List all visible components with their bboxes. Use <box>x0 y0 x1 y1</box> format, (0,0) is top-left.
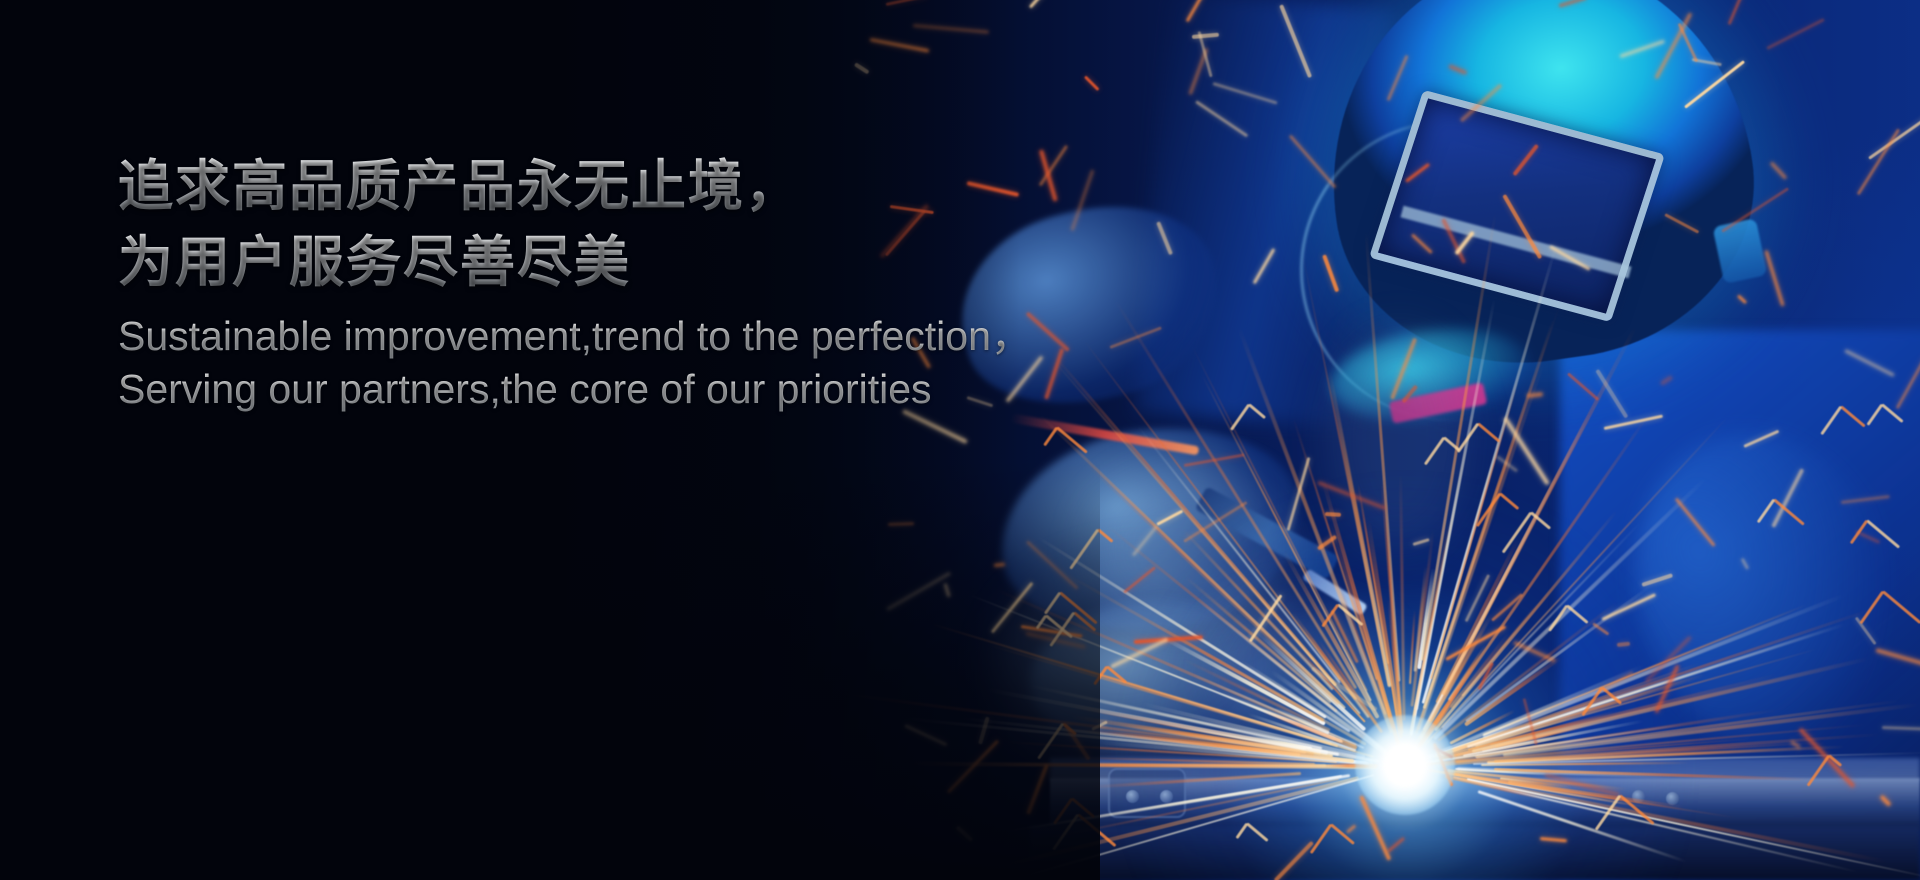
hero-text-block: 追求高品质产品永无止境， 为用户服务尽善尽美 Sustainable impro… <box>118 148 1018 416</box>
subhead-english: Sustainable improvement,trend to the per… <box>118 310 1018 416</box>
spark-fragment <box>1325 512 1341 517</box>
headline-line-1: 追求高品质产品永无止境， <box>118 148 1018 224</box>
welding-photo-background <box>0 0 1920 880</box>
subhead-line-1: Sustainable improvement,trend to the per… <box>118 310 1018 363</box>
headline-chinese: 追求高品质产品永无止境， 为用户服务尽善尽美 <box>118 148 1018 300</box>
headline-line-2: 为用户服务尽善尽美 <box>118 224 1018 300</box>
arc-core <box>1355 715 1455 815</box>
hero-banner: 追求高品质产品永无止境， 为用户服务尽善尽美 Sustainable impro… <box>0 0 1920 880</box>
subhead-line-2: Serving our partners,the core of our pri… <box>118 363 1018 416</box>
